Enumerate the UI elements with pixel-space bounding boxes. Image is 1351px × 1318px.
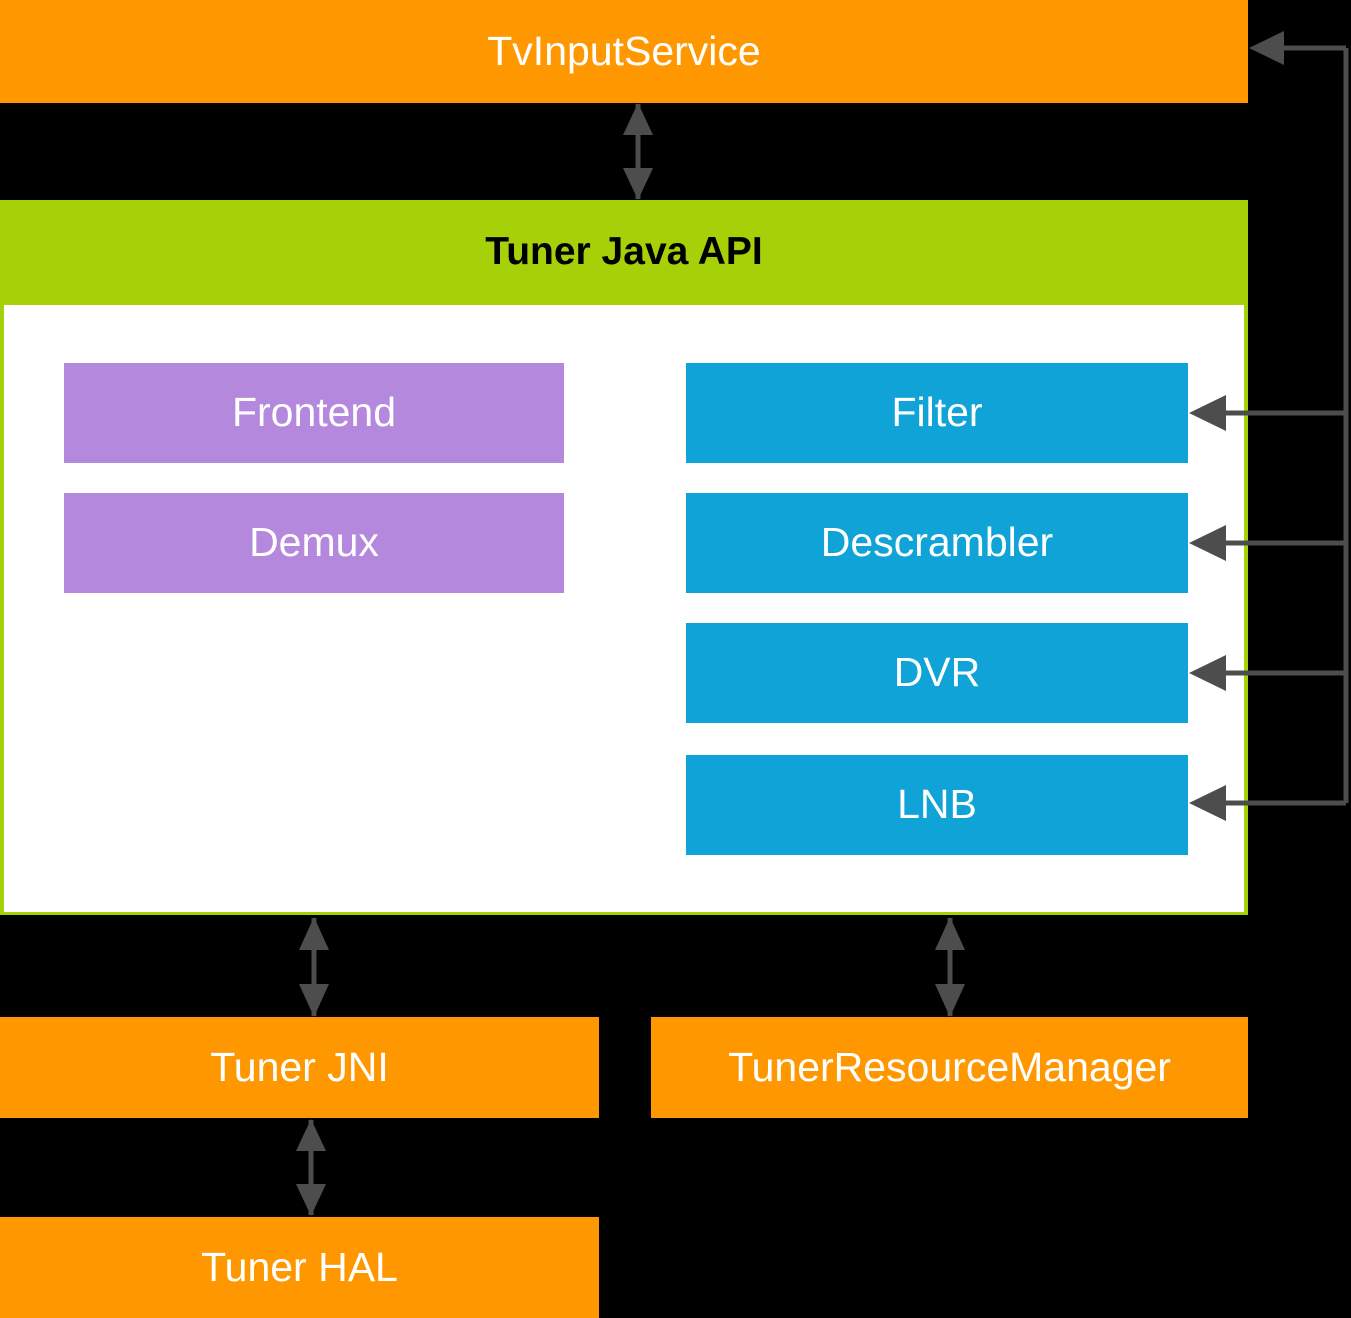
node-frontend[interactable]: Frontend	[64, 363, 564, 463]
node-dvr-label: DVR	[894, 651, 981, 694]
node-filter[interactable]: Filter	[686, 363, 1188, 463]
node-demux-label: Demux	[249, 521, 379, 564]
node-frontend-label: Frontend	[232, 391, 396, 434]
node-tuner-java-api[interactable]: Tuner Java API Frontend Demux Filter Des…	[0, 200, 1248, 915]
connector-tuner-java-api-to-tuner-jni	[299, 917, 329, 1017]
node-tuner-resource-manager[interactable]: TunerResourceManager	[651, 1017, 1248, 1118]
connector-bus-to-tv-input-service	[1249, 31, 1346, 65]
connector-tuner-jni-to-tuner-hal	[296, 1119, 326, 1216]
node-tv-input-service[interactable]: TvInputService	[0, 0, 1248, 103]
node-tuner-java-api-label: Tuner Java API	[0, 200, 1248, 303]
node-dvr[interactable]: DVR	[686, 623, 1188, 723]
node-tuner-hal-label: Tuner HAL	[201, 1246, 398, 1289]
node-tuner-hal[interactable]: Tuner HAL	[0, 1217, 599, 1318]
node-filter-label: Filter	[891, 391, 982, 434]
node-tuner-jni[interactable]: Tuner JNI	[0, 1017, 599, 1118]
node-descrambler-label: Descrambler	[821, 521, 1053, 564]
node-tuner-resource-manager-label: TunerResourceManager	[728, 1046, 1171, 1089]
connector-tv-input-service-to-tuner-java-api	[623, 103, 653, 200]
node-tuner-jni-label: Tuner JNI	[210, 1046, 388, 1089]
node-demux[interactable]: Demux	[64, 493, 564, 593]
architecture-diagram: TvInputService Tuner Java API Frontend D…	[0, 0, 1351, 1318]
node-lnb-label: LNB	[897, 783, 977, 826]
node-descrambler[interactable]: Descrambler	[686, 493, 1188, 593]
node-tv-input-service-label: TvInputService	[487, 30, 760, 73]
connector-tuner-java-api-to-tuner-resource-manager	[935, 917, 965, 1017]
node-lnb[interactable]: LNB	[686, 755, 1188, 855]
tuner-java-api-inner-panel: Frontend Demux Filter Descrambler DVR LN…	[4, 305, 1244, 912]
